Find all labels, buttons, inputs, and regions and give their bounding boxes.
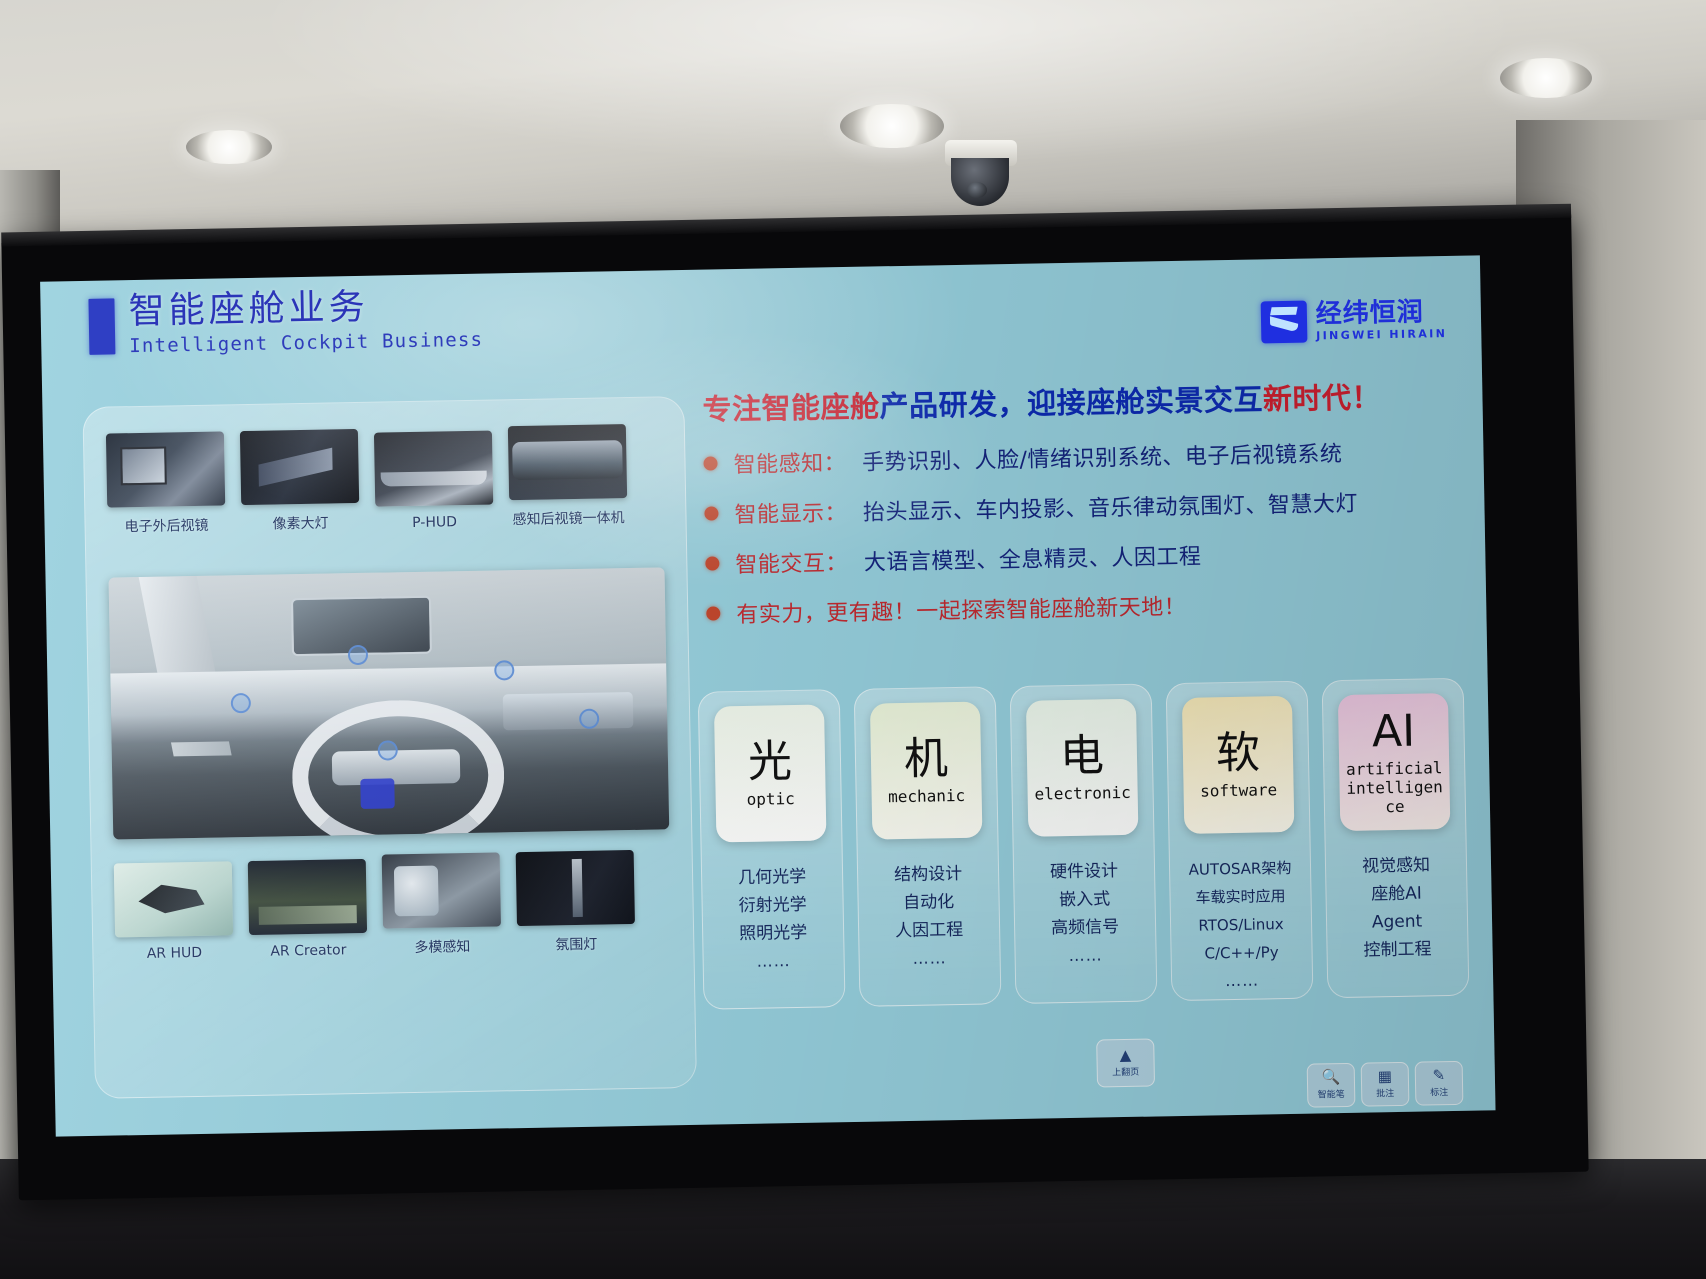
headline-part1: 专注智能座舱 — [702, 389, 880, 426]
bullet-lead: 智能显示： — [734, 495, 847, 529]
card-chip: AI artificial intelligence — [1338, 693, 1450, 831]
card-title-cn: 光 — [748, 739, 793, 786]
card-item: 几何光学 — [738, 867, 806, 888]
annotate-button[interactable]: ▦ 批注 — [1361, 1062, 1410, 1107]
capability-card-ai: AI artificial intelligence 视觉感知 座舱AI Age… — [1322, 678, 1470, 999]
capability-card-mechanic: 机 mechanic 结构设计 自动化 人因工程 …… — [854, 686, 1002, 1007]
card-item: 结构设计 — [894, 864, 962, 885]
list-item: 有实力，更有趣！一起探索智能座舱新天地！ — [706, 584, 1456, 630]
bullet-list: 智能感知：手势识别、人脸/情绪识别系统、电子后视镜系统 智能显示：抬头显示、车内… — [703, 434, 1456, 630]
card-items: 几何光学 衍射光学 照明光学 …… — [738, 867, 808, 972]
header-accent-bar — [88, 298, 115, 354]
bullet-dot-icon — [704, 506, 718, 520]
annotate-label: 批注 — [1376, 1086, 1394, 1099]
card-title-cn: 电 — [1060, 733, 1105, 780]
ceiling-light-icon — [186, 130, 272, 164]
card-item: AUTOSAR架构 — [1189, 858, 1292, 880]
card-items: 视觉感知 座舱AI Agent 控制工程 — [1362, 855, 1432, 960]
card-item: 照明光学 — [739, 923, 807, 944]
card-item: …… — [912, 948, 946, 969]
card-title-cn: AI — [1372, 708, 1416, 755]
headline-part2: 产品研发，迎接座舱实景交互 — [879, 382, 1263, 423]
logo-name-en: JINGWEI HIRAIN — [1316, 328, 1447, 341]
card-item: 自动化 — [903, 892, 954, 913]
room-photo: 智能座舱业务 Intelligent Cockpit Business 经纬恒润… — [0, 0, 1706, 1279]
gallery-caption: 感知后视镜一体机 — [512, 507, 624, 529]
card-title-en: software — [1200, 780, 1277, 800]
card-title-en: mechanic — [888, 785, 965, 805]
product-photo-pixel-light — [240, 429, 359, 505]
card-title-en: optic — [746, 789, 795, 809]
product-photo-rear-mirror — [508, 424, 627, 500]
card-item: 高频信号 — [1051, 917, 1119, 938]
capability-card-electronic: 电 electronic 硬件设计 嵌入式 高频信号 …… — [1010, 683, 1158, 1004]
card-item: 衍射光学 — [738, 895, 806, 916]
smart-pen-label: 智能笔 — [1318, 1087, 1345, 1100]
gallery-item: AR HUD — [114, 861, 234, 962]
bullet-dot-icon — [703, 456, 717, 470]
gallery-item: P-HUD — [374, 431, 494, 532]
list-item: 智能交互：大语言模型、全息精灵、人因工程 — [705, 534, 1455, 580]
headline: 专注智能座舱产品研发，迎接座舱实景交互新时代！ — [702, 376, 1453, 430]
card-item: 车载实时应用 — [1195, 886, 1285, 908]
gallery-item: 氛围灯 — [516, 850, 636, 955]
dome-camera-icon — [945, 140, 1017, 210]
card-item: 座舱AI — [1371, 884, 1422, 905]
grid-icon: ▦ — [1378, 1069, 1392, 1084]
gallery-item: 像素大灯 — [240, 429, 360, 534]
card-item: Agent — [1372, 912, 1423, 933]
card-title-cn: 机 — [904, 736, 949, 783]
capability-card-software: 软 software AUTOSAR架构 车载实时应用 RTOS/Linux C… — [1166, 681, 1314, 1002]
gallery-row-top: 电子外后视镜 像素大灯 P-HUD 感知后视镜一体机 — [106, 424, 628, 537]
gallery-caption: 多模感知 — [414, 936, 470, 957]
capability-card-optic: 光 optic 几何光学 衍射光学 照明光学 …… — [698, 689, 846, 1010]
page-up-button[interactable]: ▲ 上翻页 — [1096, 1038, 1155, 1087]
bullet-lead: 智能交互： — [735, 545, 848, 579]
slide-body-right: 专注智能座舱产品研发，迎接座舱实景交互新时代！ 智能感知：手势识别、人脸/情绪识… — [702, 376, 1456, 630]
product-photo-e-mirror — [106, 431, 225, 507]
card-item: …… — [1225, 971, 1259, 992]
page-up-label: 上翻页 — [1112, 1065, 1139, 1078]
card-title-en: electronic — [1034, 782, 1131, 803]
gallery-caption: 像素大灯 — [272, 513, 328, 534]
card-item: RTOS/Linux — [1198, 914, 1284, 936]
product-gallery-panel: 电子外后视镜 像素大灯 P-HUD 感知后视镜一体机 — [82, 396, 697, 1099]
card-item: 人因工程 — [895, 920, 963, 941]
gallery-caption: P-HUD — [412, 514, 457, 531]
list-item: 智能显示：抬头显示、车内投影、音乐律动氛围灯、智慧大灯 — [704, 484, 1454, 530]
mark-button[interactable]: ✎ 标注 — [1415, 1061, 1464, 1106]
product-photo-phud — [374, 431, 493, 507]
product-photo-ar-creator — [248, 859, 367, 935]
bullet-text: 手势识别、人脸/情绪识别系统、电子后视镜系统 — [862, 436, 1343, 477]
bullet-dot-icon — [705, 556, 719, 570]
bullet-text: 有实力，更有趣！一起探索智能座舱新天地！ — [736, 589, 1187, 629]
card-items: 硬件设计 嵌入式 高频信号 …… — [1050, 861, 1120, 966]
card-chip: 电 electronic — [1026, 699, 1138, 837]
smart-pen-button[interactable]: 🔍 智能笔 — [1307, 1063, 1356, 1108]
chevron-up-icon: ▲ — [1120, 1048, 1132, 1063]
card-item: …… — [756, 951, 790, 972]
logo-name-cn: 经纬恒润 — [1316, 299, 1448, 327]
ceiling-light-icon — [1500, 58, 1592, 98]
mark-label: 标注 — [1430, 1085, 1448, 1098]
card-item: …… — [1068, 945, 1102, 966]
gallery-caption: AR Creator — [270, 942, 346, 959]
page-title: 智能座舱业务 — [128, 286, 483, 332]
slide-header: 智能座舱业务 Intelligent Cockpit Business — [88, 286, 483, 359]
gallery-caption: 电子外后视镜 — [124, 515, 208, 537]
card-chip: 机 mechanic — [870, 702, 982, 840]
headline-part3: 新时代！ — [1263, 380, 1382, 416]
bullet-text: 大语言模型、全息精灵、人因工程 — [864, 539, 1202, 577]
product-photo-ar-hud — [114, 861, 233, 937]
bullet-dot-icon — [706, 606, 720, 620]
gallery-caption: AR HUD — [147, 945, 203, 962]
card-item: 硬件设计 — [1050, 861, 1118, 882]
capability-cards: 光 optic 几何光学 衍射光学 照明光学 …… 机 mechanic — [698, 678, 1470, 1010]
gallery-item: 多模感知 — [382, 852, 502, 957]
hirain-logo-icon — [1260, 301, 1307, 344]
gallery-item: 电子外后视镜 — [106, 431, 226, 536]
list-item: 智能感知：手势识别、人脸/情绪识别系统、电子后视镜系统 — [703, 434, 1453, 480]
bullet-text: 抬头显示、车内投影、音乐律动氛围灯、智慧大灯 — [863, 486, 1359, 527]
ceiling-light-icon — [840, 104, 944, 148]
company-logo: 经纬恒润 JINGWEI HIRAIN — [1260, 298, 1447, 343]
bullet-lead: 智能感知： — [733, 445, 846, 479]
card-item: 嵌入式 — [1059, 889, 1110, 910]
projector-screen: 智能座舱业务 Intelligent Cockpit Business 经纬恒润… — [1, 212, 1588, 1201]
product-photo-multimodal — [382, 852, 501, 928]
cockpit-interior-photo — [109, 567, 670, 839]
pencil-icon: ✎ — [1432, 1068, 1445, 1083]
card-chip: 软 software — [1182, 696, 1294, 834]
presentation-slide: 智能座舱业务 Intelligent Cockpit Business 经纬恒润… — [40, 255, 1495, 1136]
card-items: AUTOSAR架构 车载实时应用 RTOS/Linux C/C++/Py …… — [1189, 858, 1294, 992]
gallery-item: AR Creator — [248, 859, 368, 960]
card-title-cn: 软 — [1216, 730, 1261, 777]
card-chip: 光 optic — [714, 704, 826, 842]
card-item: 视觉感知 — [1362, 855, 1430, 876]
card-items: 结构设计 自动化 人因工程 …… — [894, 864, 964, 969]
gallery-item: 感知后视镜一体机 — [508, 424, 628, 529]
gallery-caption: 氛围灯 — [555, 934, 597, 955]
search-icon: 🔍 — [1321, 1070, 1340, 1085]
product-photo-ambient-light — [516, 850, 635, 926]
card-title-en: artificial intelligence — [1342, 758, 1447, 817]
card-item: 控制工程 — [1363, 939, 1431, 960]
gallery-row-bottom: AR HUD AR Creator 多模感知 氛围灯 — [114, 850, 636, 963]
card-item: C/C++/Py — [1204, 942, 1278, 963]
page-subtitle: Intelligent Cockpit Business — [129, 328, 483, 358]
